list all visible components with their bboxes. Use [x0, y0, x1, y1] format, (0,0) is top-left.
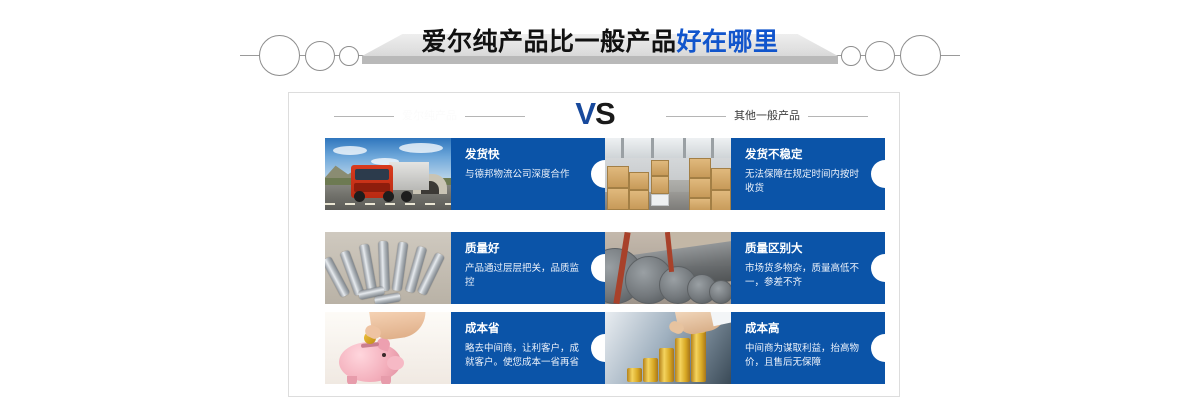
card-title: 成本高	[745, 322, 859, 337]
gray-steel-pipes-photo	[605, 232, 731, 304]
left-column-header: 爱尔纯产品	[334, 107, 525, 125]
header-rule-left-a	[334, 116, 394, 117]
advantage-card-body: 质量好 产品通过层层把关，品质监控	[451, 232, 605, 304]
card-notch-circle	[591, 334, 605, 362]
right-column-label: 其他一般产品	[734, 107, 800, 125]
drawback-card-cost[interactable]: 成本高 中间商为谋取利益，抬高物价，且售后无保障	[605, 312, 885, 384]
piggy-bank-coin-photo	[325, 312, 451, 384]
advantage-card-delivery[interactable]: 发货快 与德邦物流公司深度合作	[325, 138, 605, 210]
warehouse-cartons-photo	[605, 138, 731, 210]
card-title: 发货快	[465, 148, 579, 163]
header-rule-left-b	[465, 116, 525, 117]
red-truck-highway-photo	[325, 138, 451, 210]
page-title: 爱尔纯产品比一般产品好在哪里	[0, 25, 1200, 59]
card-title: 质量区别大	[745, 242, 859, 257]
vs-letter-s: S	[595, 96, 615, 131]
card-description: 中间商为谋取利益，抬高物价，且售后无保障	[745, 342, 859, 369]
right-column-header: 其他一般产品	[666, 107, 868, 125]
card-notch-circle	[871, 254, 885, 282]
header-rule-right-b	[808, 116, 868, 117]
card-description: 略去中间商，让利客户，成就客户。使您成本一省再省	[465, 342, 579, 369]
page-banner: 爱尔纯产品比一般产品好在哪里	[0, 0, 1200, 82]
drawback-card-body: 质量区别大 市场货多物杂，质量高低不一，参差不齐	[731, 232, 885, 304]
advantage-card-body: 发货快 与德邦物流公司深度合作	[451, 138, 605, 210]
page-title-main: 爱尔纯产品比一般产品	[421, 28, 676, 56]
card-title: 质量好	[465, 242, 579, 257]
header-rule-right-a	[666, 116, 726, 117]
card-notch-circle	[591, 160, 605, 188]
drawback-card-body: 发货不稳定 无法保障在规定时间内按时收货	[731, 138, 885, 210]
advantage-card-cost[interactable]: 成本省 略去中间商，让利客户，成就客户。使您成本一省再省	[325, 312, 605, 384]
comparison-panel: 爱尔纯产品 VS 其他一般产品	[288, 92, 900, 397]
advantage-card-body: 成本省 略去中间商，让利客户，成就客户。使您成本一省再省	[451, 312, 605, 384]
card-notch-circle	[871, 160, 885, 188]
card-description: 市场货多物杂，质量高低不一，参差不齐	[745, 262, 859, 289]
card-notch-circle	[591, 254, 605, 282]
card-title: 成本省	[465, 322, 579, 337]
vs-letter-v: V	[575, 96, 595, 131]
card-description: 与德邦物流公司深度合作	[465, 168, 579, 182]
left-column-label: 爱尔纯产品	[402, 107, 457, 125]
drawback-card-delivery[interactable]: 发货不稳定 无法保障在规定时间内按时收货	[605, 138, 885, 210]
card-description: 产品通过层层把关，品质监控	[465, 262, 579, 289]
advantage-card-quality[interactable]: 质量好 产品通过层层把关，品质监控	[325, 232, 605, 304]
comparison-card-grid: 发货快 与德邦物流公司深度合作 质量好 产品通过层层把关，品质监控	[289, 138, 901, 397]
gold-coin-stacks-photo	[605, 312, 731, 384]
drawback-card-quality[interactable]: 质量区别大 市场货多物杂，质量高低不一，参差不齐	[605, 232, 885, 304]
card-title: 发货不稳定	[745, 148, 859, 163]
card-description: 无法保障在规定时间内按时收货	[745, 168, 859, 195]
card-notch-circle	[871, 334, 885, 362]
metal-filter-cylinders-photo	[325, 232, 451, 304]
page-title-highlight: 好在哪里	[677, 28, 779, 56]
comparison-column-headers: 爱尔纯产品 VS 其他一般产品	[289, 93, 901, 138]
drawback-card-body: 成本高 中间商为谋取利益，抬高物价，且售后无保障	[731, 312, 885, 384]
vs-badge: VS	[560, 97, 630, 131]
